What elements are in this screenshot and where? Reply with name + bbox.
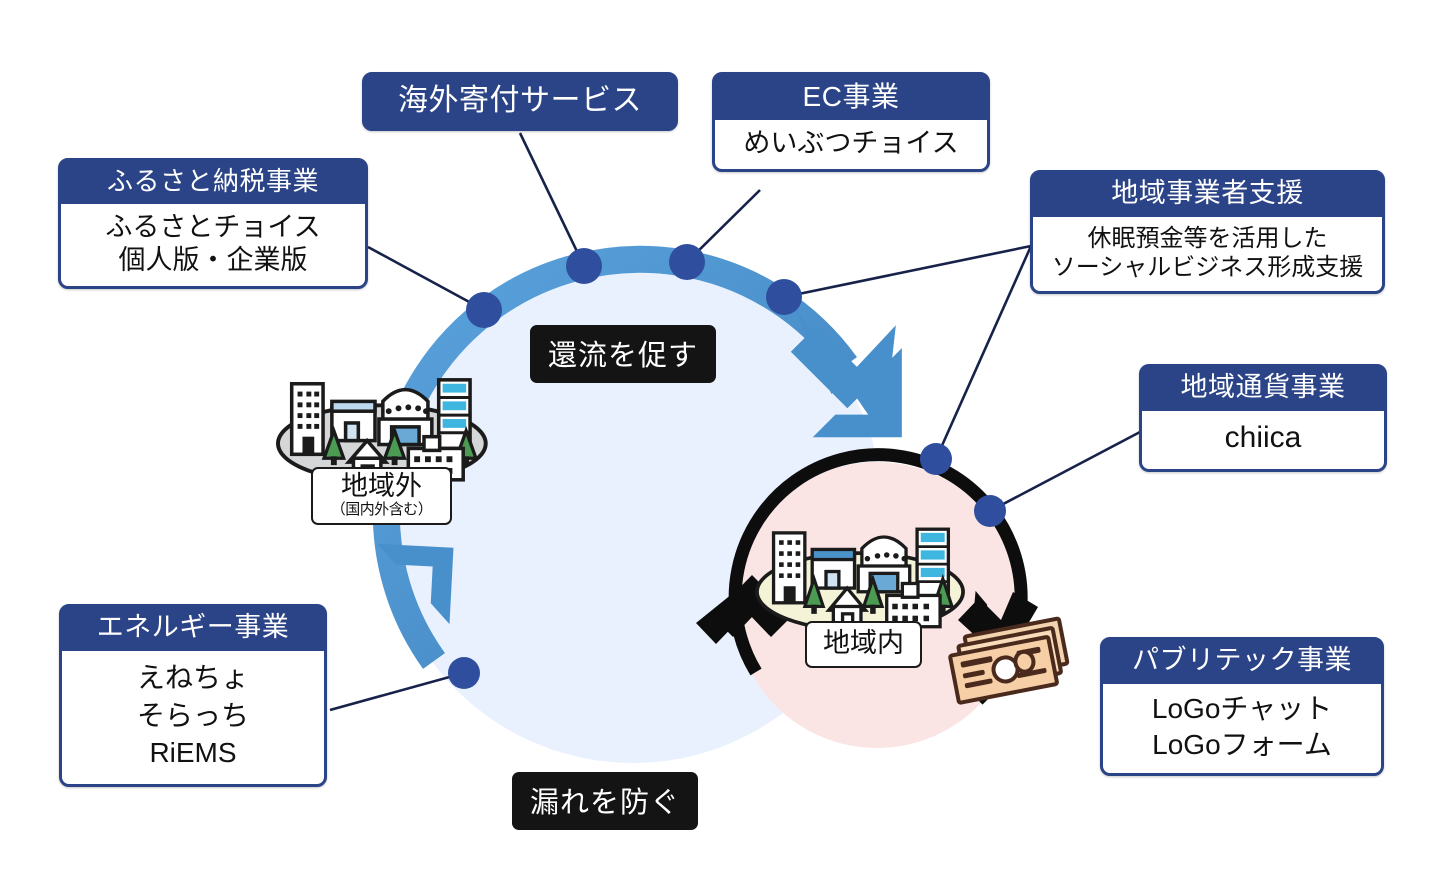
card-energy[interactable]: エネルギー事業 えねちょ そらっち RiEMS: [59, 604, 327, 787]
ribbon-promote: 還流を促す: [530, 325, 716, 383]
card-overseas-donation-title: 海外寄付サービス: [365, 75, 675, 128]
plate-outside-region: 地域外 （国内外含む）: [311, 467, 452, 525]
card-publitech-line-2: LoGoフォーム: [1113, 727, 1371, 763]
diagram-canvas: ふるさと納税事業 ふるさとチョイス 個人版・企業版 海外寄付サービス EC事業 …: [0, 0, 1440, 882]
card-energy-line-3: RiEMS: [72, 734, 314, 772]
card-ec-line-1: めいぶつチョイス: [725, 127, 977, 160]
dot-overseas[interactable]: [566, 248, 602, 284]
card-local-business-support-line-2: ソーシャルビジネス形成支援: [1043, 253, 1372, 282]
card-local-currency-body: chiica: [1142, 411, 1384, 470]
card-furusato-title: ふるさと納税事業: [61, 161, 365, 204]
card-energy-line-1: えねちょ: [72, 659, 314, 697]
card-publitech-line-1: LoGoチャット: [1113, 691, 1371, 727]
card-furusato-body: ふるさとチョイス 個人版・企業版: [61, 204, 365, 286]
card-publitech-body: LoGoチャット LoGoフォーム: [1103, 684, 1381, 773]
dot-energy[interactable]: [448, 657, 480, 689]
card-local-business-support-title: 地域事業者支援: [1033, 173, 1382, 217]
card-ec[interactable]: EC事業 めいぶつチョイス: [712, 72, 990, 172]
dot-furusato[interactable]: [466, 292, 502, 328]
ribbon-prevent-label: 漏れを防ぐ: [530, 787, 680, 819]
card-local-business-support-line-1: 休眠預金等を活用した: [1043, 224, 1372, 253]
ribbon-promote-label: 還流を促す: [548, 340, 698, 372]
plate-outside-label: 地域外: [341, 471, 422, 501]
connector-support-inner: [936, 246, 1031, 459]
card-local-currency[interactable]: 地域通貨事業 chiica: [1139, 364, 1387, 472]
dot-ec[interactable]: [669, 244, 705, 280]
card-overseas-donation[interactable]: 海外寄付サービス: [362, 72, 678, 131]
card-local-business-support[interactable]: 地域事業者支援 休眠預金等を活用した ソーシャルビジネス形成支援: [1030, 170, 1385, 294]
ribbon-prevent: 漏れを防ぐ: [512, 772, 698, 830]
connector-support-outer: [784, 246, 1031, 297]
card-ec-body: めいぶつチョイス: [715, 120, 987, 169]
card-publitech[interactable]: パブリテック事業 LoGoチャット LoGoフォーム: [1100, 637, 1384, 776]
card-furusato[interactable]: ふるさと納税事業 ふるさとチョイス 個人版・企業版: [58, 158, 368, 289]
connector-energy: [330, 673, 464, 710]
dot-support-inner[interactable]: [920, 443, 952, 475]
card-local-currency-title: 地域通貨事業: [1142, 367, 1384, 411]
connector-overseas: [520, 133, 584, 266]
dot-currency[interactable]: [974, 495, 1006, 527]
dot-support[interactable]: [766, 279, 802, 315]
card-ec-title: EC事業: [715, 75, 987, 120]
plate-inside-region: 地域内: [805, 621, 922, 668]
card-publitech-title: パブリテック事業: [1103, 640, 1381, 684]
card-local-currency-line-1: chiica: [1152, 420, 1374, 457]
connector-currency: [990, 432, 1140, 511]
plate-outside-sublabel: （国内外含む）: [323, 502, 440, 518]
card-energy-title: エネルギー事業: [62, 607, 324, 651]
card-furusato-line-1: ふるさとチョイス: [71, 211, 355, 244]
connector-furusato: [368, 247, 484, 310]
card-local-business-support-body: 休眠預金等を活用した ソーシャルビジネス形成支援: [1033, 217, 1382, 292]
card-energy-line-2: そらっち: [72, 697, 314, 735]
plate-inside-label: 地域内: [823, 628, 904, 658]
card-energy-body: えねちょ そらっち RiEMS: [62, 651, 324, 784]
card-furusato-line-2: 個人版・企業版: [71, 244, 355, 277]
